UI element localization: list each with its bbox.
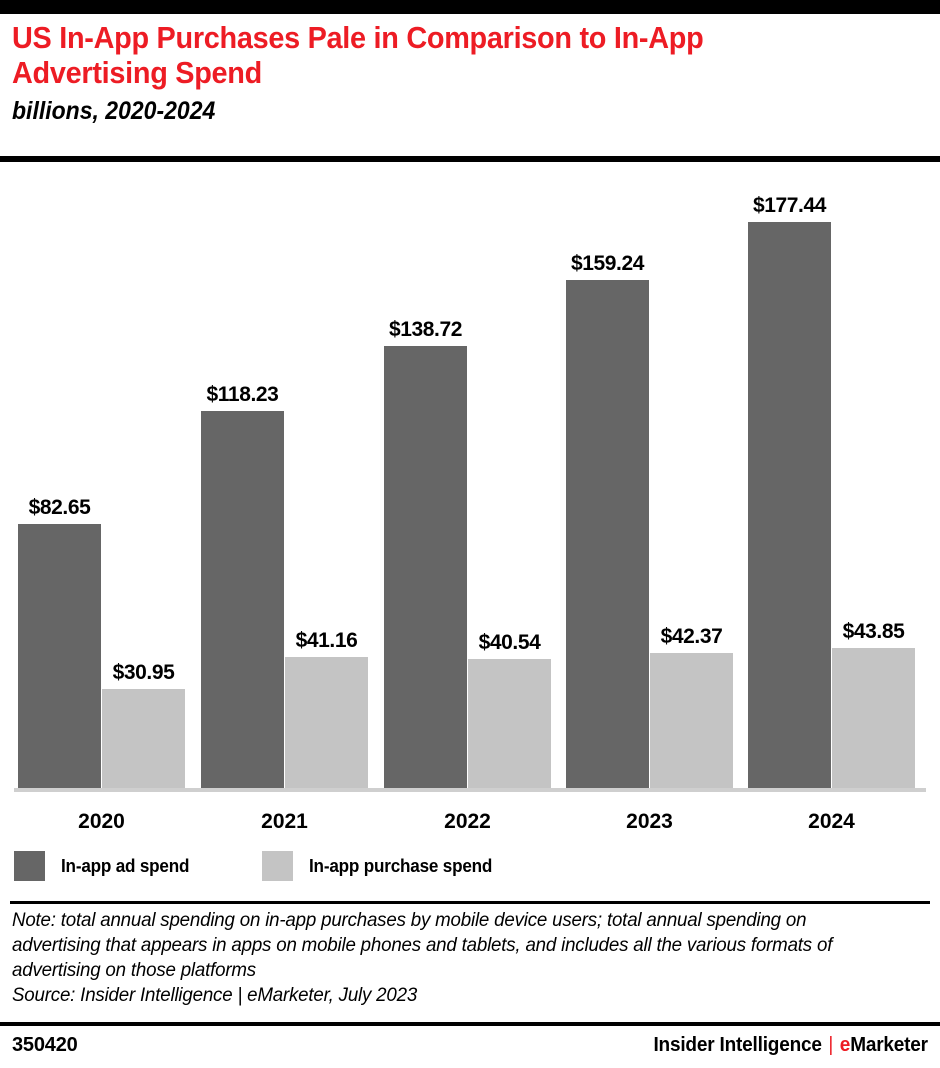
x-axis-label-2022: 2022: [384, 810, 551, 834]
brand-lockup: Insider Intelligence | eMarketer: [654, 1034, 928, 1057]
x-axis-label-2021: 2021: [201, 810, 368, 834]
bar-2020-series-2: [102, 689, 185, 788]
chart-header: US In-App Purchases Pale in Comparison t…: [12, 20, 928, 126]
brand-marketer-text: Marketer: [850, 1034, 928, 1056]
bar-value-label: $159.24: [548, 252, 667, 276]
bar-value-label: $82.65: [0, 496, 119, 520]
x-axis-label-2020: 2020: [18, 810, 185, 834]
bar-value-label: $30.95: [84, 661, 203, 685]
bar-value-label: $42.37: [632, 625, 751, 649]
bar-value-label: $43.85: [814, 620, 933, 644]
brand-insider-intelligence: Insider Intelligence: [654, 1034, 822, 1057]
top-rule: [0, 0, 940, 14]
bar-value-label: $40.54: [450, 631, 569, 655]
bar-value-label: $138.72: [366, 318, 485, 342]
page-subtitle: billions, 2020-2024: [12, 96, 855, 126]
bar-2021-series-2: [285, 657, 368, 788]
bar-2023-series-1: [566, 280, 649, 788]
legend-swatch-icon-dark: [14, 851, 45, 881]
chart-id: 350420: [12, 1034, 78, 1057]
footer-divider: [0, 1022, 940, 1026]
bar-value-label: $118.23: [183, 383, 302, 407]
bar-value-label: $41.16: [267, 629, 386, 653]
page-title: US In-App Purchases Pale in Comparison t…: [12, 20, 864, 90]
chart-footer: 350420 Insider Intelligence | eMarketer: [0, 1028, 940, 1062]
bar-2021-series-1: [201, 411, 284, 788]
legend-item-ad-spend: In-app ad spend: [14, 851, 196, 881]
brand-separator: |: [829, 1034, 834, 1057]
bar-2022-series-1: [384, 346, 467, 788]
bar-value-label: $177.44: [730, 194, 849, 218]
note-divider: [10, 901, 930, 904]
chart-sheet: US In-App Purchases Pale in Comparison t…: [0, 0, 940, 1068]
source-text: Source: Insider Intelligence | eMarketer…: [12, 983, 891, 1008]
bar-2024-series-1: [748, 222, 831, 788]
header-divider: [0, 156, 940, 162]
bar-2022-series-2: [468, 659, 551, 788]
notes-block: Note: total annual spending on in-app pu…: [12, 908, 928, 1008]
brand-emarketer: eMarketer: [840, 1034, 928, 1057]
legend-swatch-icon-light: [262, 851, 293, 881]
legend-label-purchase-spend: In-app purchase spend: [309, 856, 492, 877]
brand-e-accent: e: [840, 1034, 850, 1056]
bar-chart-plot: $82.65$30.952020$118.23$41.162021$138.72…: [0, 170, 940, 792]
legend-label-ad-spend: In-app ad spend: [61, 856, 189, 877]
bar-2023-series-2: [650, 653, 733, 788]
legend-item-purchase-spend: In-app purchase spend: [262, 851, 502, 881]
chart-legend: In-app ad spend In-app purchase spend: [14, 851, 568, 881]
x-axis-label-2024: 2024: [748, 810, 915, 834]
bar-2020-series-1: [18, 524, 101, 788]
x-axis-line: [14, 788, 926, 792]
note-text: Note: total annual spending on in-app pu…: [12, 908, 891, 983]
bar-2024-series-2: [832, 648, 915, 788]
x-axis-label-2023: 2023: [566, 810, 733, 834]
